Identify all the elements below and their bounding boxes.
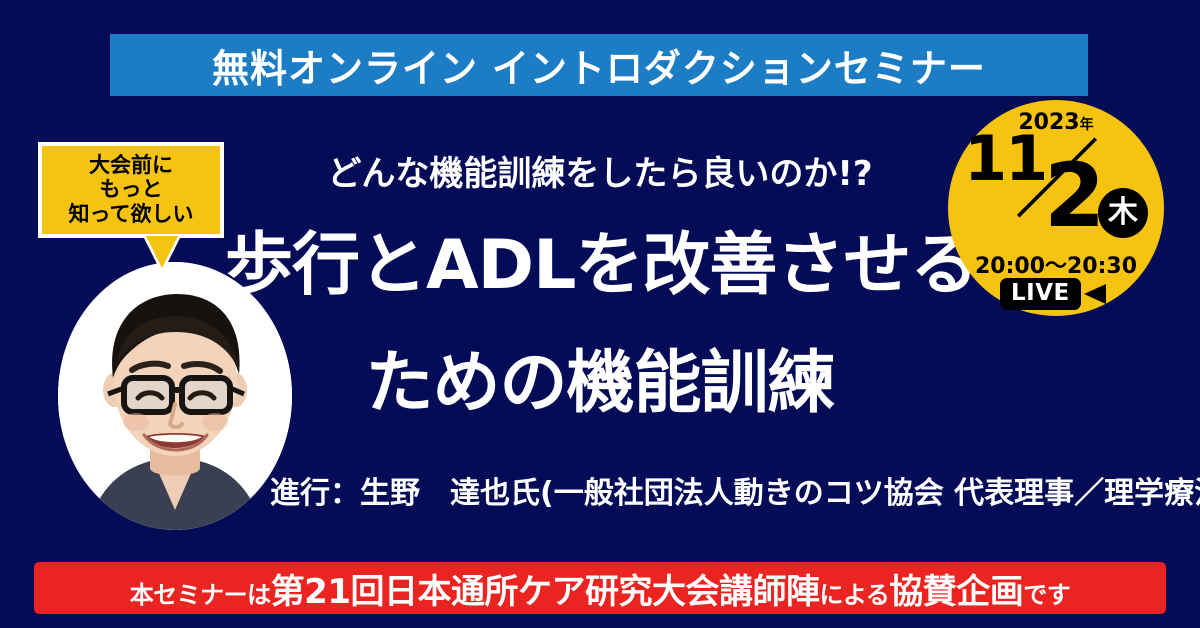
date-day: 2 (1044, 152, 1105, 240)
speech-bubble-tail-icon (146, 236, 178, 268)
footer-middle: による (820, 581, 890, 609)
subheadline: どんな機能訓練をしたら良いのか!? (250, 146, 950, 195)
seminar-banner: 無料オンライン イントロダクションセミナー 大会前に もっと 知って欲しい (0, 0, 1200, 628)
title-line-2: ための機能訓練 (225, 350, 975, 418)
live-indicator: LIVE (1000, 278, 1106, 310)
live-label: LIVE (1000, 278, 1081, 310)
footer-emphasis: 第21回日本通所ケア研究大会講師陣 (271, 572, 820, 612)
header-banner-text: 無料オンライン イントロダクションセミナー (212, 37, 986, 94)
video-camera-icon (1084, 284, 1106, 304)
footer-text: 本セミナーは第21回日本通所ケア研究大会講師陣による協賛企画です (130, 564, 1071, 613)
day-of-week-label: 木 (1108, 198, 1138, 228)
date-time: 20:00〜20:30 (948, 248, 1164, 280)
date-badge: 2023年 11 ／ 2 木 20:00〜20:30 LIVE (948, 100, 1164, 316)
footer-suffix: です (1023, 581, 1070, 609)
speech-bubble-line-3: 知って欲しい (69, 203, 194, 227)
presenter-credit: 進行：生野 達也氏(一般社団法人動きのコツ協会 代表理事／理学療法士) (270, 468, 1190, 512)
header-banner: 無料オンライン イントロダクションセミナー (110, 34, 1088, 96)
presenter-photo (58, 262, 292, 530)
footer-prefix: 本セミナーは (130, 581, 271, 609)
speech-bubble-line-1: 大会前に (89, 154, 173, 178)
day-of-week-badge: 木 (1098, 188, 1148, 238)
presenter-avatar (58, 262, 292, 530)
speech-bubble-line-2: もっと (100, 178, 163, 202)
speech-bubble: 大会前に もっと 知って欲しい (38, 142, 224, 238)
footer-emphasis-2: 協賛企画 (889, 572, 1023, 612)
title-line-1: 歩行とADLを改善させる (225, 232, 975, 300)
footer-banner: 本セミナーは第21回日本通所ケア研究大会講師陣による協賛企画です (34, 562, 1166, 614)
